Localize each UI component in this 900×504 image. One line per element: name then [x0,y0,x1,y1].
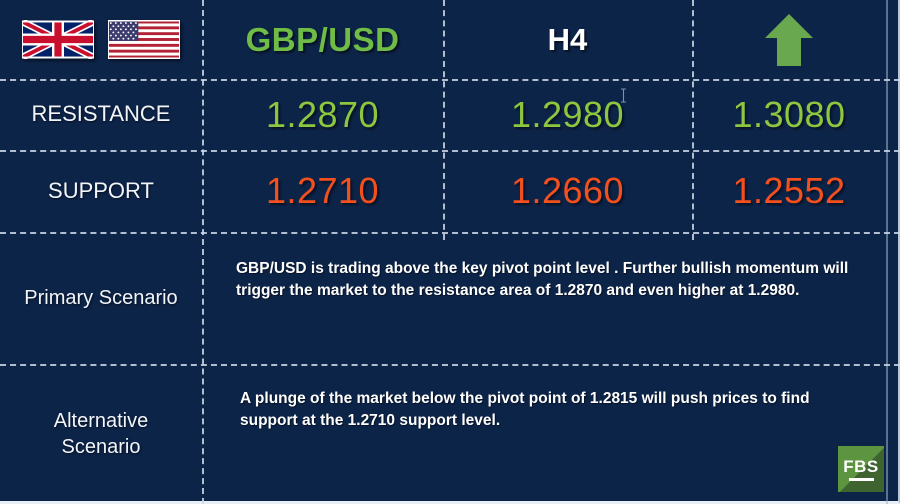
resistance-value-2: 1.2980 [511,94,624,136]
fbs-logo: FBS [838,446,884,492]
support-value-1: 1.2710 [266,170,379,212]
primary-scenario-label: Primary Scenario [24,285,177,311]
resistance-value-cell: 1.3080 [692,79,886,150]
currency-pair-cell: GBP/USD [202,0,443,79]
support-value-2: 1.2660 [511,170,624,212]
resistance-value-1: 1.2870 [266,94,379,136]
grid-divider-vertical [886,0,888,504]
primary-scenario-text: GBP/USD is trading above the key pivot p… [236,258,888,303]
logo-underline [849,478,874,481]
resistance-label: RESISTANCE [32,101,171,128]
support-label: SUPPORT [48,178,154,205]
resistance-value-3: 1.3080 [732,94,845,136]
support-value-3: 1.2552 [732,170,845,212]
up-arrow-icon [763,12,815,68]
trend-direction-cell [692,0,886,79]
primary-scenario-text-cell: GBP/USD is trading above the key pivot p… [236,258,888,303]
alternative-scenario-text-cell: A plunge of the market below the pivot p… [240,388,860,433]
support-value-cell: 1.2552 [692,150,886,232]
forex-signal-board: GBP/USD H4 RESISTANCE 1.2870 1.2980 1.30… [0,0,900,504]
support-value-cell: 1.2660 [443,150,692,232]
support-value-cell: 1.2710 [202,150,443,232]
resistance-value-cell: 1.2980 [443,79,692,150]
logo-text: FBS [843,458,879,475]
alternative-scenario-text: A plunge of the market below the pivot p… [240,388,860,433]
currency-flags-cell [0,0,202,79]
timeframe-cell: H4 [443,0,692,79]
resistance-value-cell: 1.2870 [202,79,443,150]
resistance-row-label-cell: RESISTANCE [0,79,202,150]
us-flag-icon [108,20,180,59]
alternative-scenario-label: Alternative Scenario [12,408,190,460]
logo-mark: FBS [838,446,884,492]
alternative-scenario-label-cell: Alternative Scenario [0,364,202,504]
uk-flag-icon [22,20,94,59]
support-row-label-cell: SUPPORT [0,150,202,232]
primary-scenario-label-cell: Primary Scenario [0,232,202,364]
timeframe-label: H4 [548,22,588,58]
currency-pair-label: GBP/USD [246,21,400,59]
